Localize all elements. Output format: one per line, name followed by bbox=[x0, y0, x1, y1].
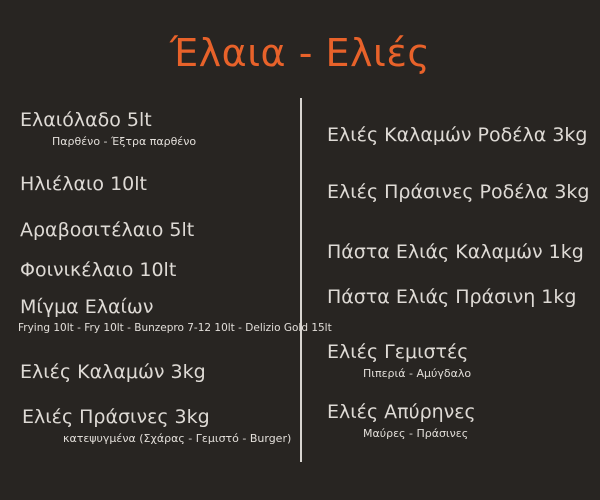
menu-item: Πάστα Ελιάς Πράσινη 1kg bbox=[305, 285, 600, 309]
menu-item: Ελιές Πράσινες Ροδέλα 3kg bbox=[305, 180, 600, 204]
menu-item-subtitle: Πιπεριά - Αμύγδαλο bbox=[305, 366, 600, 381]
menu-item-name: Μίγμα Ελαίων bbox=[0, 295, 295, 319]
menu-item-name: Ελιές Γεμιστές bbox=[305, 340, 600, 364]
menu-item-subtitle: Frying 10lt - Fry 10lt - Bunzepro 7-12 1… bbox=[0, 321, 295, 336]
menu-item-subtitle: κατεψυγμένα (Σχάρας - Γεμιστό - Burger) bbox=[0, 431, 295, 446]
menu-item: Αραβοσιτέλαιο 5lt bbox=[0, 218, 295, 242]
menu-item-name: Αραβοσιτέλαιο 5lt bbox=[0, 218, 295, 242]
menu-item: Ελιές Γεμιστές Πιπεριά - Αμύγδαλο bbox=[305, 340, 600, 381]
menu-item-name: Ελιές Απύρηνες bbox=[305, 400, 600, 424]
menu-item-name: Ελιές Πράσινες 3kg bbox=[0, 405, 295, 429]
menu-item-name: Ελιές Καλαμών 3kg bbox=[0, 360, 295, 384]
menu-item-subtitle: Μαύρες - Πράσινες bbox=[305, 426, 600, 441]
menu-item: Ελιές Καλαμών Ροδέλα 3kg bbox=[305, 123, 600, 147]
menu-item: Πάστα Ελιάς Καλαμών 1kg bbox=[305, 240, 600, 264]
menu-board: Έλαια - Ελιές Ελαιόλαδο 5lt Παρθένο - Έξ… bbox=[0, 0, 600, 500]
menu-item-name: Ελιές Καλαμών Ροδέλα 3kg bbox=[305, 123, 600, 147]
menu-item-name: Ελαιόλαδο 5lt bbox=[0, 108, 295, 132]
menu-item-name: Ελιές Πράσινες Ροδέλα 3kg bbox=[305, 180, 600, 204]
menu-item: Ελιές Καλαμών 3kg bbox=[0, 360, 295, 384]
menu-item: Ελιές Πράσινες 3kg κατεψυγμένα (Σχάρας -… bbox=[0, 405, 295, 446]
menu-item: Φοινικέλαιο 10lt bbox=[0, 258, 295, 282]
column-divider bbox=[300, 98, 302, 462]
menu-item: Ελιές Απύρηνες Μαύρες - Πράσινες bbox=[305, 400, 600, 441]
menu-item: Μίγμα Ελαίων Frying 10lt - Fry 10lt - Bu… bbox=[0, 295, 295, 336]
menu-item-name: Ηλιέλαιο 10lt bbox=[0, 172, 295, 196]
menu-item: Ηλιέλαιο 10lt bbox=[0, 172, 295, 196]
menu-item: Ελαιόλαδο 5lt Παρθένο - Έξτρα παρθένο bbox=[0, 108, 295, 149]
menu-item-name: Φοινικέλαιο 10lt bbox=[0, 258, 295, 282]
menu-item-name: Πάστα Ελιάς Καλαμών 1kg bbox=[305, 240, 600, 264]
page-title: Έλαια - Ελιές bbox=[0, 30, 600, 76]
menu-item-subtitle: Παρθένο - Έξτρα παρθένο bbox=[0, 134, 295, 149]
menu-item-name: Πάστα Ελιάς Πράσινη 1kg bbox=[305, 285, 600, 309]
